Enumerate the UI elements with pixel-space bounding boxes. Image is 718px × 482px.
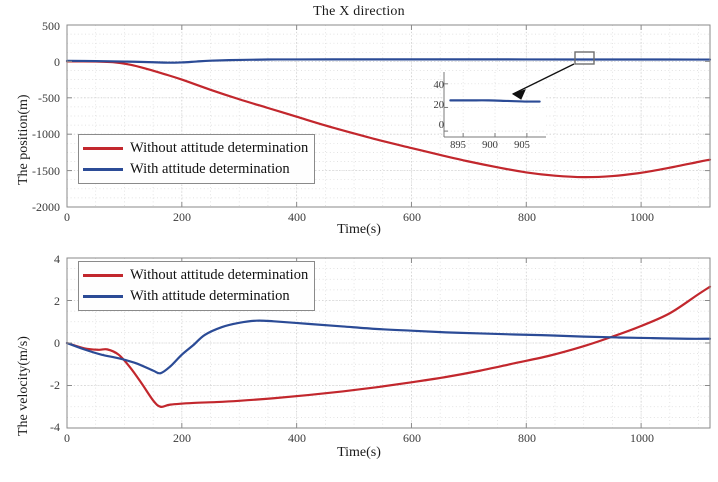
legend-label: With attitude determination [130, 162, 290, 177]
figure-root: The X direction The position(m) 500 0 -5… [0, 0, 718, 482]
inset-y-tick-label: 40 [424, 80, 444, 91]
legend-swatch-with [83, 168, 123, 171]
legend-item: With attitude determination [83, 159, 308, 180]
plot-area-position [0, 0, 718, 241]
legend-item: Without attitude determination [83, 138, 308, 159]
legend-label: With attitude determination [130, 289, 290, 304]
legend-position-chart: Without attitude determination With atti… [78, 134, 315, 184]
legend-velocity-chart: Without attitude determination With atti… [78, 261, 315, 311]
inset-x-tick-label: 905 [508, 140, 536, 151]
legend-label: Without attitude determination [130, 268, 308, 283]
inset-y-tick-label: 0 [424, 120, 444, 131]
legend-item: Without attitude determination [83, 265, 308, 286]
legend-swatch-without [83, 147, 123, 150]
inset-y-tick-label: 20 [424, 100, 444, 111]
inset-x-tick-label: 900 [476, 140, 504, 151]
legend-swatch-without [83, 274, 123, 277]
legend-item: With attitude determination [83, 286, 308, 307]
inset-x-tick-label: 895 [444, 140, 472, 151]
legend-swatch-with [83, 295, 123, 298]
chart-panel-velocity: The velocity(m/s) 4 2 0 -2 -4 0 200 400 … [0, 241, 718, 482]
chart-panel-position: The X direction The position(m) 500 0 -5… [0, 0, 718, 241]
legend-label: Without attitude determination [130, 141, 308, 156]
